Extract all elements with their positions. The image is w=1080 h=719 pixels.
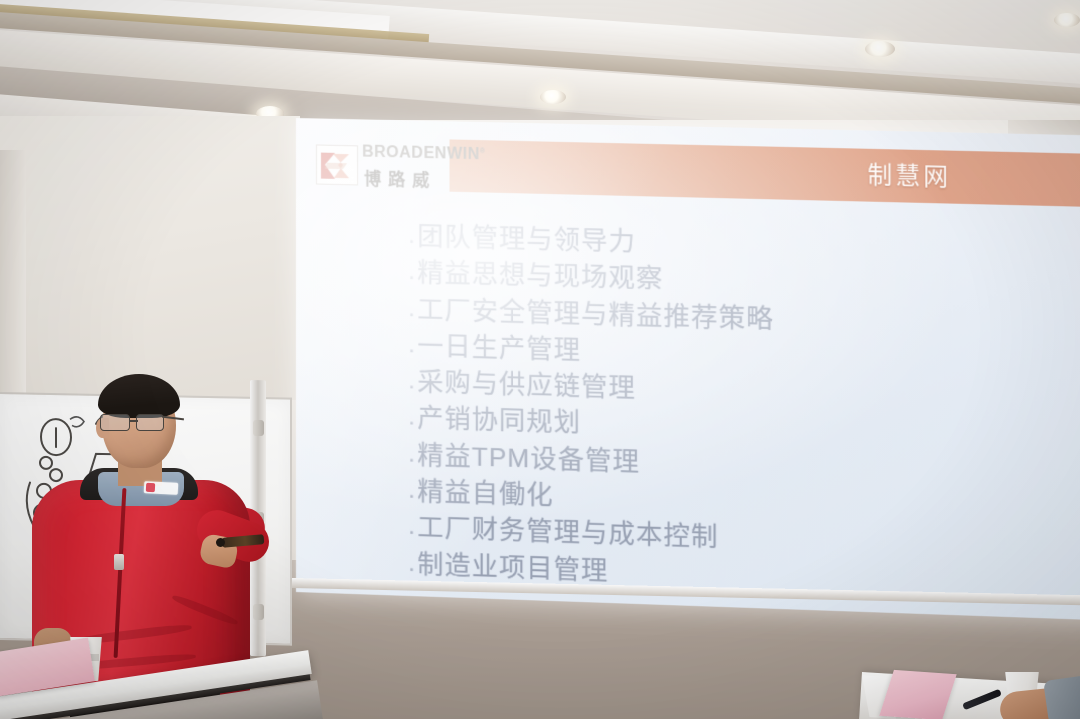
slide-title: 制慧网 [867, 155, 951, 193]
bullet-marker: . [408, 292, 417, 327]
slide-bullet-list: .团队管理与领导力 .精益思想与现场观察 .工厂安全管理与精益推荐策略 .一日生… [408, 219, 1080, 607]
downlight-icon [540, 90, 566, 104]
jacket-logo-mark-icon [146, 483, 155, 492]
slide-title-bar [450, 139, 1080, 207]
bullet-marker: . [408, 546, 417, 581]
list-item-label: 精益自働化 [417, 474, 553, 513]
bullet-marker: . [408, 437, 417, 472]
trademark-symbol: ® [480, 148, 486, 155]
slide: 制慧网 BROADENWIN® 博路威 .团队管理与领导力 .精益思想与现场观察 [296, 118, 1080, 620]
glasses-bridge [130, 420, 138, 422]
bullet-marker: . [408, 219, 417, 254]
left-wall-edge [0, 150, 26, 410]
left-wall [0, 116, 300, 416]
laser-pointer-tip-icon [216, 538, 225, 547]
downlight-icon [865, 41, 895, 57]
list-item-label: 精益思想与现场观察 [417, 255, 663, 296]
bullet-marker: . [408, 474, 417, 509]
bullet-marker: . [408, 255, 417, 290]
logo-mark-box [316, 144, 358, 185]
list-item-label: 精益TPM设备管理 [417, 438, 640, 479]
list-item-label: 团队管理与领导力 [417, 219, 636, 259]
brand-logo: BROADENWIN® 博路威 [316, 142, 462, 194]
projection-screen: 制慧网 BROADENWIN® 博路威 .团队管理与领导力 .精益思想与现场观察 [296, 118, 1080, 620]
bullet-marker: . [408, 401, 417, 436]
bullet-marker: . [408, 328, 417, 363]
zipper-pull [114, 554, 124, 570]
brand-name-en: BROADENWIN® [362, 143, 485, 164]
brand-name-en-text: BROADENWIN [362, 143, 480, 163]
downlight-icon [1054, 13, 1080, 27]
glasses-lens [136, 414, 164, 431]
screenshot-root: 制慧网 BROADENWIN® 博路威 .团队管理与领导力 .精益思想与现场观察 [0, 0, 1080, 719]
glasses-lens [100, 414, 130, 431]
list-item-label: 产销协同规划 [417, 401, 581, 440]
brand-name-cn: 博路威 [364, 165, 436, 192]
list-item-label: 采购与供应链管理 [417, 365, 636, 406]
jacket-fold [171, 593, 239, 627]
glasses-icon [96, 414, 182, 434]
list-item-label: 一日生产管理 [417, 328, 581, 367]
bullet-marker: . [408, 364, 417, 399]
bullet-marker: . [408, 510, 417, 545]
attendee-sleeve [1043, 675, 1080, 719]
presenter-hair [98, 374, 180, 418]
chevron-k-logo-icon [319, 150, 357, 183]
glasses-temple [162, 416, 184, 420]
